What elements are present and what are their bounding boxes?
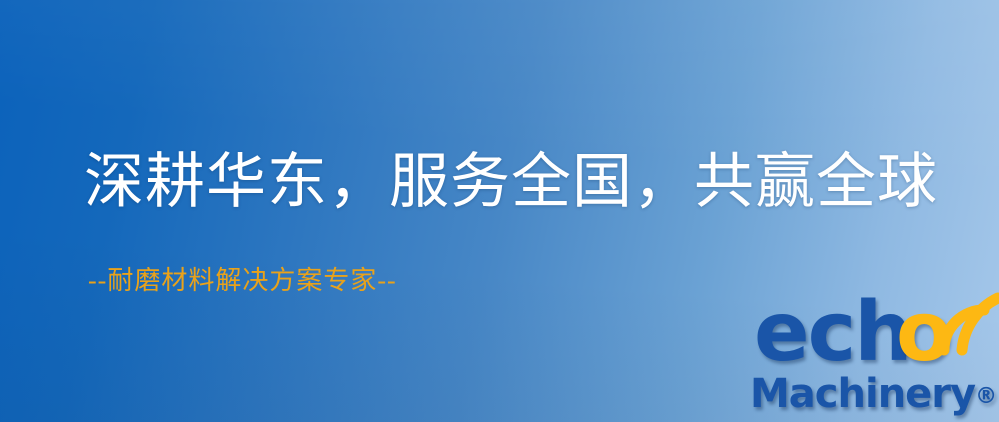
page-title: 深耕华东，服务全国，共赢全球 — [84, 152, 938, 212]
logo-tagline: Machinery® — [750, 374, 997, 417]
company-logo[interactable]: ech o Machinery® — [742, 296, 999, 422]
echo-waves-icon — [936, 290, 999, 360]
logo-tagline-text: Machinery — [750, 371, 975, 417]
page-subtitle: --耐磨材料解决方案专家-- — [88, 268, 397, 294]
registered-trademark-icon: ® — [975, 384, 997, 409]
hero-banner: 深耕华东，服务全国，共赢全球 --耐磨材料解决方案专家-- ech o Mach… — [0, 0, 999, 422]
logo-text-ech: ech — [754, 292, 911, 374]
logo-wordmark: ech o — [750, 296, 999, 378]
